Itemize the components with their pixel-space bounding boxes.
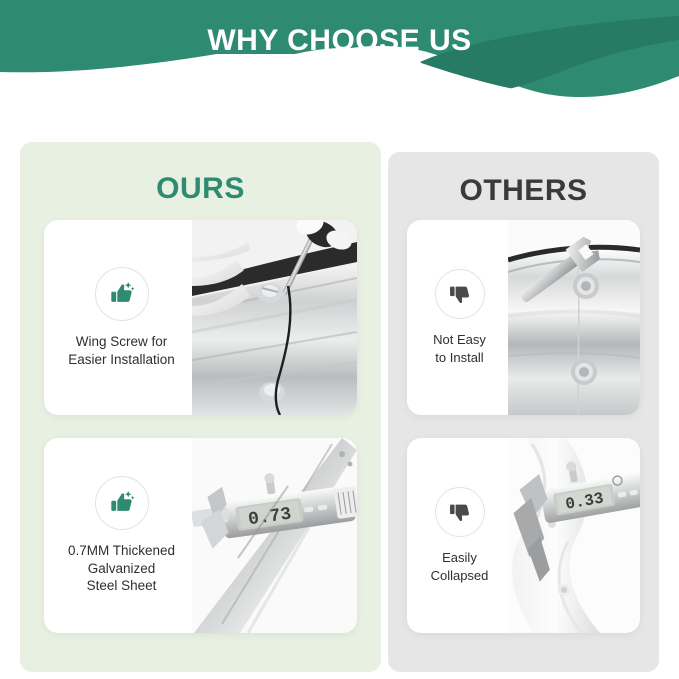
caliper-thick-photo: 0.73: [192, 438, 357, 633]
ours-card-1: Wing Screw for Easier Installation: [44, 220, 357, 415]
thumbs-up-icon: [95, 476, 149, 530]
others-card-1-label: Not Easy to Install: [433, 331, 486, 365]
others-card-2-text-block: Easily Collapsed: [407, 438, 512, 633]
thumbs-down-icon: [435, 487, 485, 537]
ours-panel: OURS Wing Screw for Easier Installation: [20, 142, 381, 672]
others-heading: OTHERS: [388, 174, 659, 208]
others-card-1-text-block: Not Easy to Install: [407, 220, 512, 415]
caliper-thin-photo: 0.33: [508, 438, 640, 633]
wrench-bolt-photo: [508, 220, 640, 415]
page-title: WHY CHOOSE US: [0, 24, 679, 58]
ours-heading: OURS: [20, 172, 381, 206]
wing-screw-photo: [192, 220, 357, 415]
page-header: WHY CHOOSE US: [0, 0, 679, 105]
others-panel: OTHERS Not Easy to Install: [388, 152, 659, 672]
ours-card-1-label: Wing Screw for Easier Installation: [68, 333, 175, 369]
ours-card-2-text-block: 0.7MM Thickened Galvanized Steel Sheet: [44, 438, 199, 633]
ours-card-2: 0.7MM Thickened Galvanized Steel Sheet: [44, 438, 357, 633]
ours-card-1-text-block: Wing Screw for Easier Installation: [44, 220, 199, 415]
others-card-1: Not Easy to Install: [407, 220, 640, 415]
thumbs-down-icon: [435, 269, 485, 319]
others-card-2: Easily Collapsed: [407, 438, 640, 633]
ours-card-2-label: 0.7MM Thickened Galvanized Steel Sheet: [68, 542, 175, 595]
others-card-2-label: Easily Collapsed: [431, 549, 489, 583]
thumbs-up-icon: [95, 267, 149, 321]
